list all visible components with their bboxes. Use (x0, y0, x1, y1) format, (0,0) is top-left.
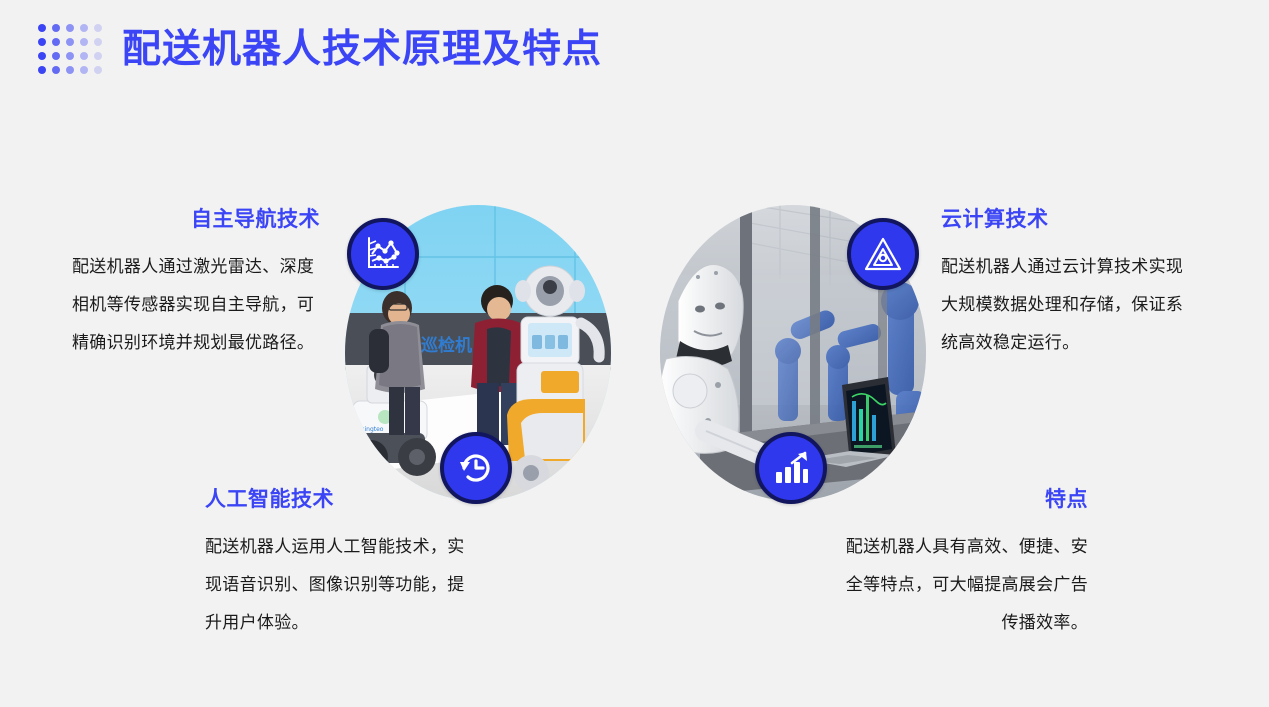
line-chart-icon[interactable] (347, 218, 419, 290)
block-artificial-intelligence: 人工智能技术 配送机器人运用人工智能技术，实现语音识别、图像识别等功能，提升用户… (205, 487, 467, 642)
block-title-cloud: 云计算技术 (941, 207, 1199, 232)
slide-canvas: 配送机器人技术原理及特点 智能巡检机 (0, 0, 1269, 707)
block-title-ai: 人工智能技术 (205, 487, 467, 512)
block-title-navigation: 自主导航技术 (72, 207, 324, 232)
block-body-features: 配送机器人具有高效、便捷、安全等特点，可大幅提高展会广告传播效率。 (830, 528, 1088, 642)
layered-triangle-icon[interactable] (847, 218, 919, 290)
block-title-features: 特点 (830, 487, 1088, 512)
bar-chart-growth-icon[interactable] (755, 432, 827, 504)
dot-grid-icon (38, 24, 100, 74)
slide-header: 配送机器人技术原理及特点 (38, 24, 602, 74)
block-body-navigation: 配送机器人通过激光雷达、深度相机等传感器实现自主导航，可精确识别环境并规划最优路… (72, 248, 324, 362)
block-autonomous-navigation: 自主导航技术 配送机器人通过激光雷达、深度相机等传感器实现自主导航，可精确识别环… (72, 207, 324, 362)
block-features: 特点 配送机器人具有高效、便捷、安全等特点，可大幅提高展会广告传播效率。 (830, 487, 1088, 642)
svg-text:kingteo: kingteo (361, 426, 384, 433)
block-cloud-computing: 云计算技术 配送机器人通过云计算技术实现大规模数据处理和存储，保证系统高效稳定运… (941, 207, 1199, 362)
page-title: 配送机器人技术原理及特点 (122, 30, 602, 69)
block-body-cloud: 配送机器人通过云计算技术实现大规模数据处理和存储，保证系统高效稳定运行。 (941, 248, 1199, 362)
block-body-ai: 配送机器人运用人工智能技术，实现语音识别、图像识别等功能，提升用户体验。 (205, 528, 467, 642)
